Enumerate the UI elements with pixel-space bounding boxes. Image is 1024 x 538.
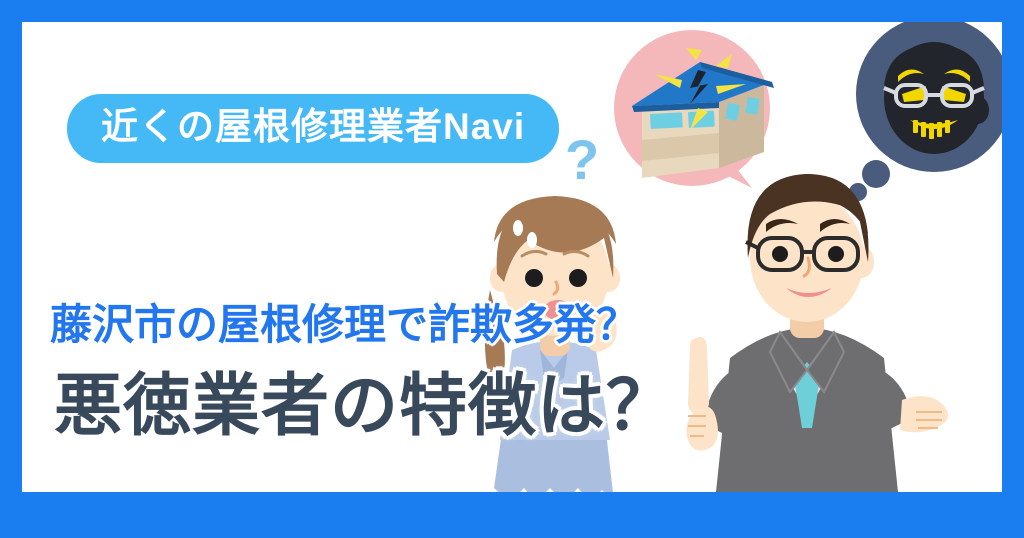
pointing-man-illustration <box>662 162 952 492</box>
banner-canvas: 近くの屋根修理業者Navi ? 藤沢市の屋根修理で詐欺多発？ 悪徳業者の特徴は？ <box>22 22 1002 492</box>
site-badge[interactable]: 近くの屋根修理業者Navi <box>67 94 559 163</box>
banner-headline: 悪徳業者の特徴は？ <box>54 366 675 448</box>
banner-root: 近くの屋根修理業者Navi ? 藤沢市の屋根修理で詐欺多発？ 悪徳業者の特徴は？ <box>0 0 1024 538</box>
banner-subtitle: 藤沢市の屋根修理で詐欺多発？ <box>50 300 638 350</box>
question-mark-decoration: ? <box>565 132 599 188</box>
